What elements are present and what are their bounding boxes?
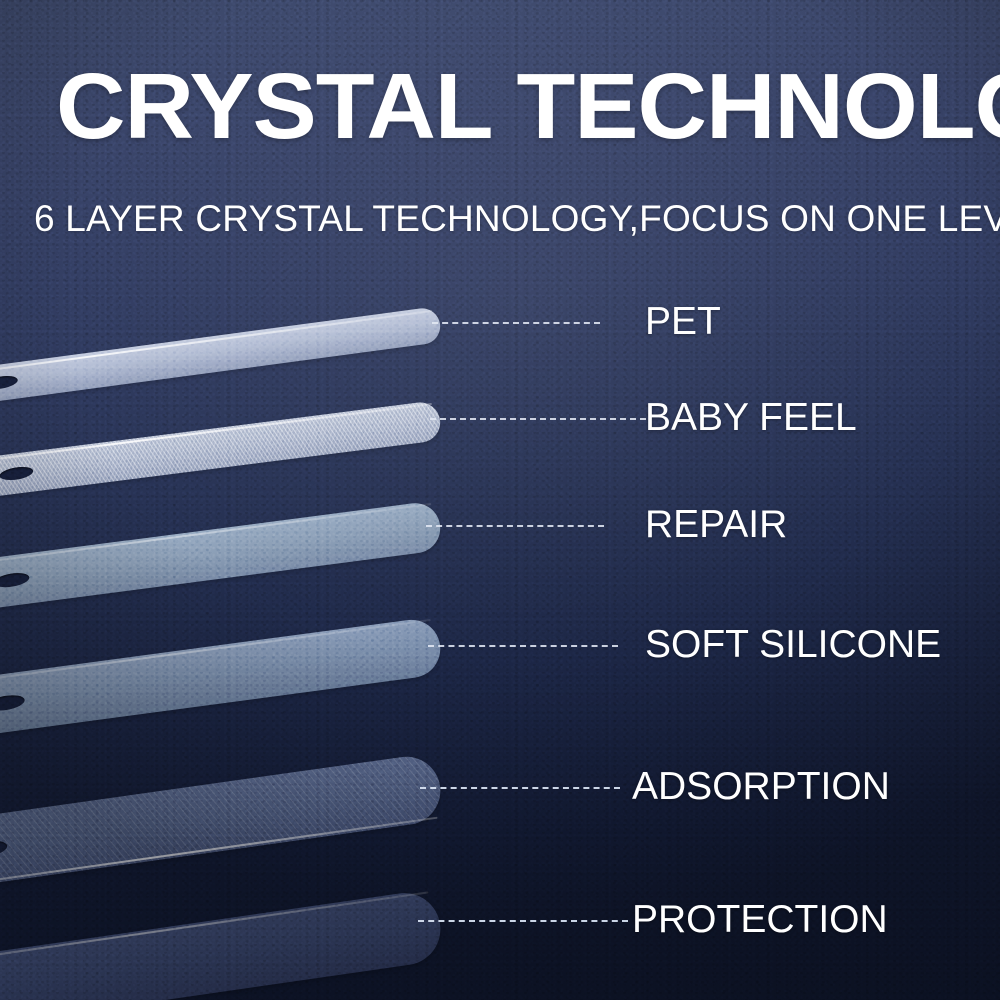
layer-sheet-repair [0, 500, 443, 632]
layer-body [0, 616, 444, 759]
layer-label-pet: PET [645, 300, 721, 344]
page-title: CRYSTAL TECHNOLOGY [56, 58, 1000, 154]
leader-line-soft-silicone [428, 645, 618, 647]
layer-body [0, 500, 443, 632]
layer-label-soft-silicone: SOFT SILICONE [645, 623, 941, 667]
leader-line-protection [418, 920, 628, 922]
leader-line-pet [432, 322, 600, 324]
layer-label-adsorption: ADSORPTION [632, 765, 890, 809]
layer-sheet-soft-silicone [0, 616, 444, 759]
layer-body [0, 400, 443, 520]
leader-line-repair [426, 525, 604, 527]
leader-line-adsorption [420, 787, 620, 789]
infographic-canvas: CRYSTAL TECHNOLOGY 6 LAYER CRYSTAL TECHN… [0, 0, 1000, 1000]
layer-sheet-baby-feel [0, 400, 443, 520]
leader-line-baby-feel [430, 418, 646, 420]
layer-sheet-adsorption [0, 752, 445, 910]
layer-label-repair: REPAIR [645, 503, 787, 547]
layer-sheet-protection [0, 888, 445, 1000]
layer-label-baby-feel: BABY FEEL [645, 396, 857, 440]
page-subtitle: 6 LAYER CRYSTAL TECHNOLOGY,FOCUS ON ONE … [34, 197, 1000, 241]
layer-body [0, 752, 445, 910]
layer-label-protection: PROTECTION [632, 898, 888, 942]
layer-body [0, 888, 445, 1000]
